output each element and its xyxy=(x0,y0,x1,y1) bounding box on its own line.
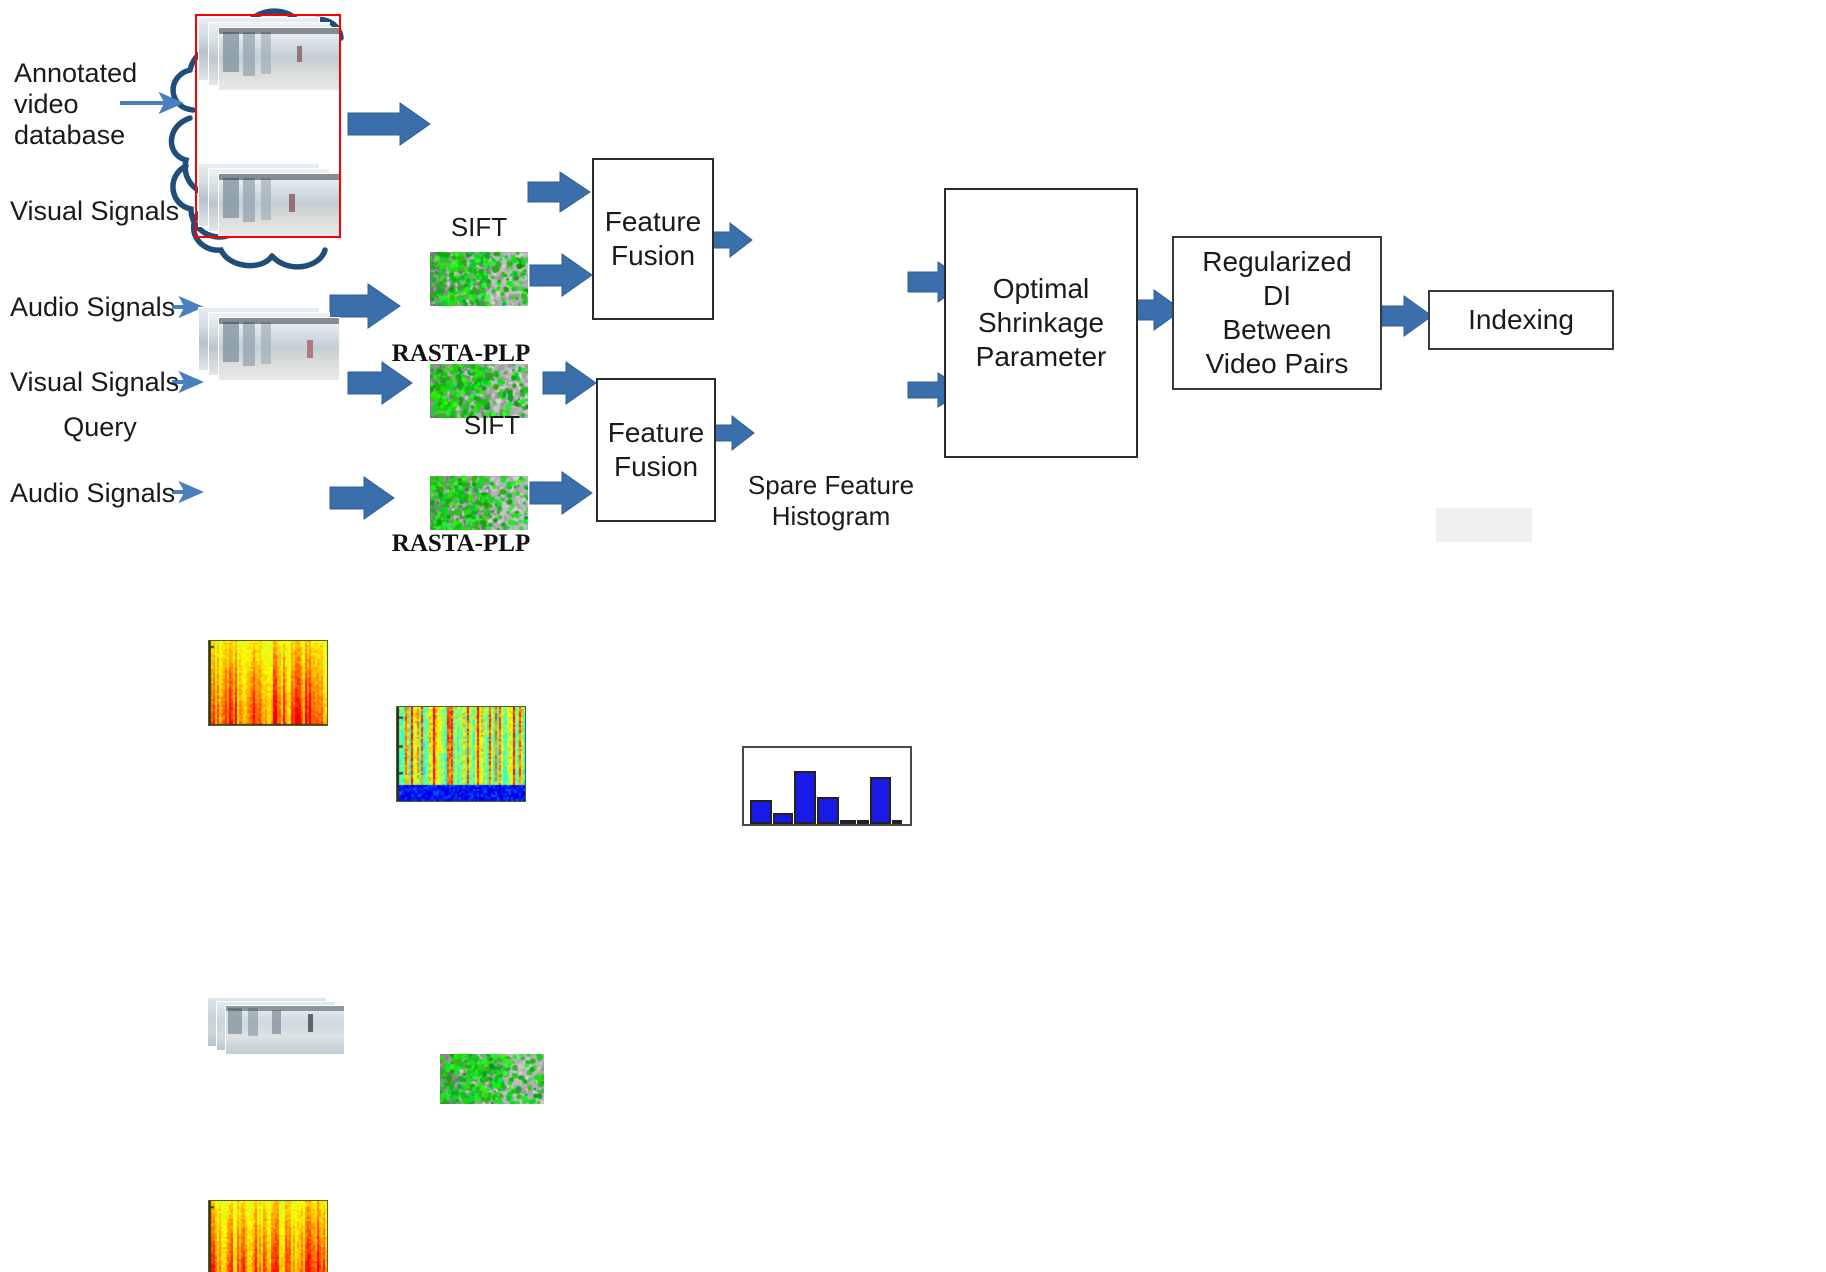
indexing-box[interactable]: Indexing xyxy=(1428,290,1614,350)
optimal-shrinkage-parameter-label: Optimal Shrinkage Parameter xyxy=(976,272,1107,374)
video-frame-stack-query xyxy=(208,998,348,1056)
histogram-bar xyxy=(892,820,902,824)
arrow-fusion-to-histogram-bottom xyxy=(712,416,754,450)
label-query: Query xyxy=(10,412,190,443)
label-rasta-plp-bottom: RASTA-PLP xyxy=(388,530,534,558)
feature-fusion-top-box[interactable]: Feature Fusion xyxy=(592,158,714,320)
video-frame-stack-db-3 xyxy=(199,308,339,380)
arrow-cloud-to-sift xyxy=(348,103,430,145)
sift-image-db-1 xyxy=(430,252,528,306)
arrow-frames-to-sift-bottom xyxy=(348,362,412,404)
arrow-rasta-to-fusion-bottom xyxy=(530,472,592,514)
regularized-di-label: Regularized DI Between Video Pairs xyxy=(1202,245,1351,381)
label-annotated-video-database: Annotated video database xyxy=(14,58,164,151)
label-audio-signals-database: Audio Signals xyxy=(10,292,210,323)
indexing-label: Indexing xyxy=(1468,303,1574,337)
database-selection-rect xyxy=(195,14,341,238)
label-sift-top: SIFT xyxy=(428,212,530,243)
label-visual-signals-database: Visual Signals xyxy=(10,196,210,227)
arrow-sift-to-fusion-top xyxy=(528,172,590,212)
sift-image-db-3 xyxy=(430,476,528,530)
arrow-di-to-indexing xyxy=(1382,296,1432,336)
histogram-bar xyxy=(794,771,816,824)
feature-fusion-bottom-box[interactable]: Feature Fusion xyxy=(596,378,716,522)
label-visual-signals-query: Visual Signals xyxy=(10,367,210,398)
histogram-bar xyxy=(773,813,793,824)
arrow-spec-to-rasta-bottom xyxy=(330,477,394,519)
feature-fusion-bottom-label: Feature Fusion xyxy=(608,416,705,484)
histogram-bar xyxy=(870,777,891,824)
spectrogram-db xyxy=(208,640,328,726)
fused-feature-histogram-database xyxy=(742,746,912,826)
histogram-bar xyxy=(750,800,772,824)
watermark-shape xyxy=(1436,508,1532,542)
optimal-shrinkage-parameter-box[interactable]: Optimal Shrinkage Parameter xyxy=(944,188,1138,458)
label-rasta-plp-top: RASTA-PLP xyxy=(388,340,534,368)
label-spare-feature-histogram: Spare Feature Histogram xyxy=(736,470,926,532)
histogram-bar xyxy=(840,820,856,824)
feature-fusion-top-label: Feature Fusion xyxy=(605,205,702,273)
diagram-canvas: Annotated video database Visual Signals … xyxy=(0,0,1826,636)
label-sift-bottom: SIFT xyxy=(438,410,546,441)
arrow-rasta-to-fusion-top xyxy=(530,254,592,296)
rasta-plp-image-top xyxy=(396,706,526,802)
sift-image-query xyxy=(440,1054,544,1104)
spectrogram-query xyxy=(208,1200,328,1272)
label-audio-signals-query: Audio Signals xyxy=(10,478,210,509)
video-frame xyxy=(219,318,339,380)
histogram-bar xyxy=(857,820,869,824)
histogram-bar xyxy=(817,797,839,824)
regularized-di-box[interactable]: Regularized DI Between Video Pairs xyxy=(1172,236,1382,390)
video-frame xyxy=(226,1006,344,1054)
arrow-sift-to-fusion-bottom xyxy=(543,362,596,404)
arrow-spec-to-rasta-top xyxy=(330,284,400,328)
arrow-fusion-to-histogram-top xyxy=(710,223,752,257)
